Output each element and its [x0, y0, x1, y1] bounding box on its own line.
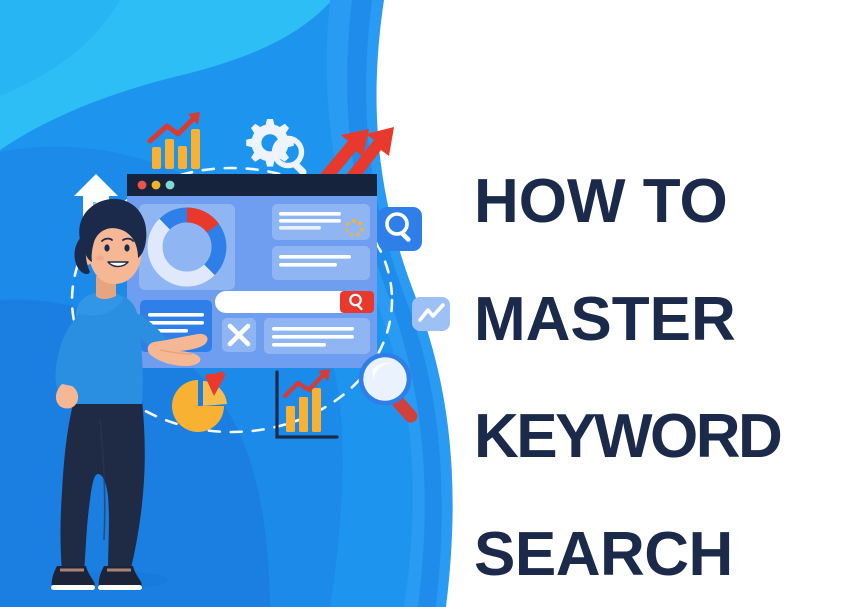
bar-chart-axis-icon [277, 369, 337, 437]
bar-chart-trend-icon [150, 112, 200, 169]
headline-line-4: SEARCH [474, 526, 846, 584]
close-tile[interactable] [222, 318, 256, 352]
pie-chart-icon [172, 371, 227, 432]
window-dot-close [138, 181, 147, 190]
magnifier-red-handle-icon [361, 355, 420, 425]
search-tile-icon[interactable] [378, 207, 422, 251]
character-legs [61, 400, 145, 572]
headline-line-3: KEYWORD [474, 408, 846, 466]
poster-canvas: HOW TO MASTER KEYWORD SEARCH STRATEGY [0, 0, 850, 607]
character-eye-right [124, 244, 129, 251]
character-eye-left [104, 244, 109, 251]
search-bar[interactable] [215, 291, 374, 313]
page-title: HOW TO MASTER KEYWORD SEARCH STRATEGY [474, 113, 846, 607]
window-dot-minimize [152, 181, 161, 190]
headline-line-1: HOW TO [474, 173, 846, 231]
window-dot-maximize [166, 181, 175, 190]
headline-line-2: MASTER [474, 291, 846, 349]
trend-line-tile-icon[interactable] [412, 297, 450, 331]
